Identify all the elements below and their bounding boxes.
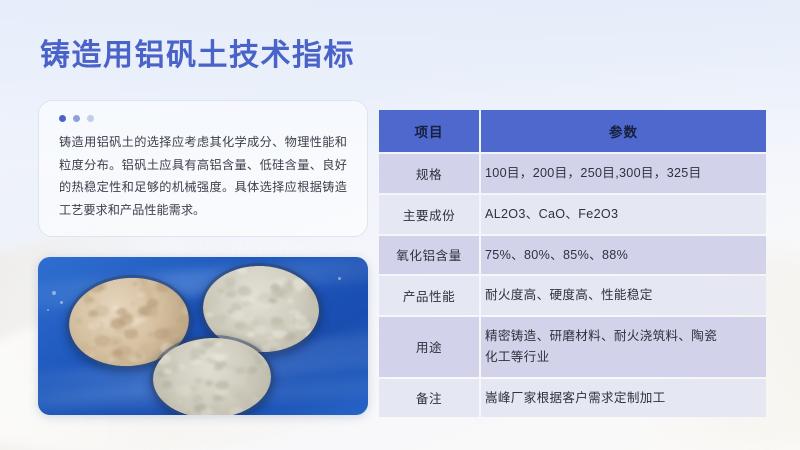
table-header: 项目 参数 [379, 110, 766, 152]
table-row: 用途 精密铸造、研磨材料、耐火浇筑料、陶瓷化工等行业 [379, 317, 766, 377]
dot-tertiary-icon [87, 115, 94, 122]
cell-item: 备注 [379, 379, 479, 418]
slide-canvas: 铸造用铝矾土技术指标 铸造用铝矾土的选择应考虑其化学成分、物理性能和粒度分布。铝… [0, 0, 800, 450]
table-row: 主要成份 AL2O3、CaO、Fe2O3 [379, 195, 766, 234]
cell-item: 产品性能 [379, 276, 479, 315]
table-header-row: 项目 参数 [379, 110, 766, 152]
photo-bubble [60, 301, 63, 304]
page-title: 铸造用铝矾土技术指标 [40, 30, 355, 74]
cell-param: 嵩峰厂家根据客户需求定制加工 [481, 379, 766, 418]
dot-primary-icon [59, 115, 66, 122]
column-header-item: 项目 [379, 110, 479, 152]
photo-bubble [47, 309, 49, 311]
bauxite-powder-samples-photo [38, 257, 368, 415]
cell-param: 100目，200目，250目,300目，325目 [481, 154, 766, 193]
cell-item: 用途 [379, 317, 479, 377]
cell-item: 氧化铝含量 [379, 236, 479, 275]
column-header-param: 参数 [481, 110, 766, 152]
info-card: 铸造用铝矾土的选择应考虑其化学成分、物理性能和粒度分布。铝矾土应具有高铝含量、低… [38, 100, 368, 237]
table-body: 规格 100目，200目，250目,300目，325目 主要成份 AL2O3、C… [379, 154, 766, 417]
card-dot-group [59, 115, 347, 122]
dot-secondary-icon [73, 115, 80, 122]
table-row: 规格 100目，200目，250目,300目，325目 [379, 154, 766, 193]
photo-bubble [52, 291, 56, 295]
cell-param: 75%、80%、85%、88% [481, 236, 766, 275]
cell-item: 规格 [379, 154, 479, 193]
cell-item: 主要成份 [379, 195, 479, 234]
table-row: 氧化铝含量 75%、80%、85%、88% [379, 236, 766, 275]
cell-param: AL2O3、CaO、Fe2O3 [481, 195, 766, 234]
photo-bubble [338, 277, 341, 280]
specification-table: 项目 参数 规格 100目，200目，250目,300目，325目 主要成份 A… [377, 108, 768, 419]
cell-param: 精密铸造、研磨材料、耐火浇筑料、陶瓷化工等行业 [481, 317, 766, 377]
table-row: 备注 嵩峰厂家根据客户需求定制加工 [379, 379, 766, 418]
table-row: 产品性能 耐火度高、硬度高、性能稳定 [379, 276, 766, 315]
info-card-paragraph: 铸造用铝矾土的选择应考虑其化学成分、物理性能和粒度分布。铝矾土应具有高铝含量、低… [59, 131, 347, 221]
cell-param: 耐火度高、硬度高、性能稳定 [481, 276, 766, 315]
